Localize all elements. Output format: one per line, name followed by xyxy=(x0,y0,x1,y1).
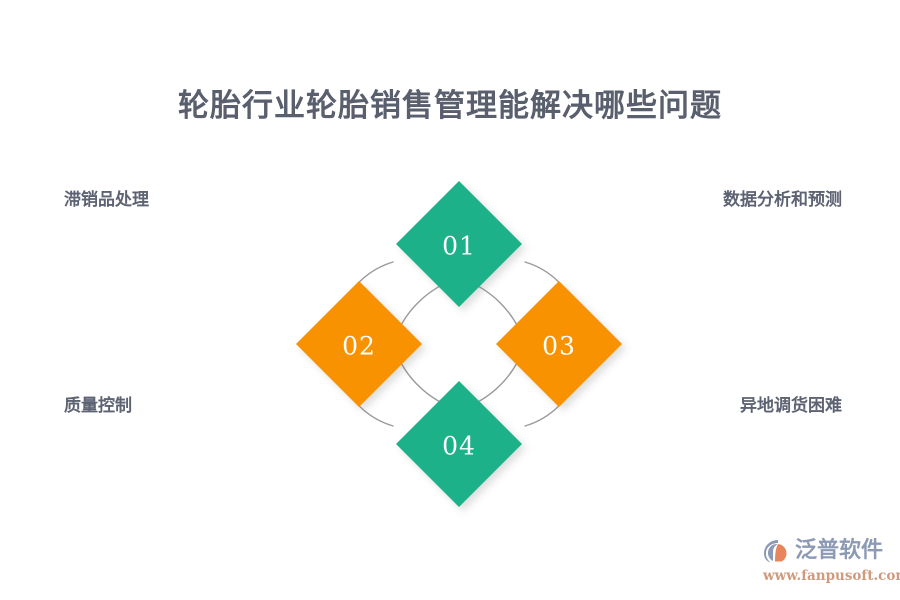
label-top-left: 滞销品处理 xyxy=(64,188,149,212)
fanpu-logo-mark-icon xyxy=(762,537,792,565)
brand-logo: 泛普软件 www.fanpusoft.com xyxy=(762,534,894,590)
label-bottom-left: 质量控制 xyxy=(64,394,132,418)
infographic-canvas: 轮胎行业轮胎销售管理能解决哪些问题 滞销品处理 数据分析和预测 质量控制 异地调… xyxy=(0,0,900,600)
page-title: 轮胎行业轮胎销售管理能解决哪些问题 xyxy=(0,86,900,126)
label-top-right: 数据分析和预测 xyxy=(723,188,842,212)
label-bottom-right: 异地调货困难 xyxy=(740,394,842,418)
diamond-cluster-diagram: 01 02 03 04 xyxy=(283,168,635,520)
diamond-number-01: 01 xyxy=(442,232,476,261)
brand-name: 泛普软件 xyxy=(795,537,883,565)
diamond-number-03: 03 xyxy=(542,332,576,361)
diamond-number-04: 04 xyxy=(442,432,476,461)
diamond-number-02: 02 xyxy=(342,332,376,361)
brand-url: www.fanpusoft.com xyxy=(763,568,894,584)
